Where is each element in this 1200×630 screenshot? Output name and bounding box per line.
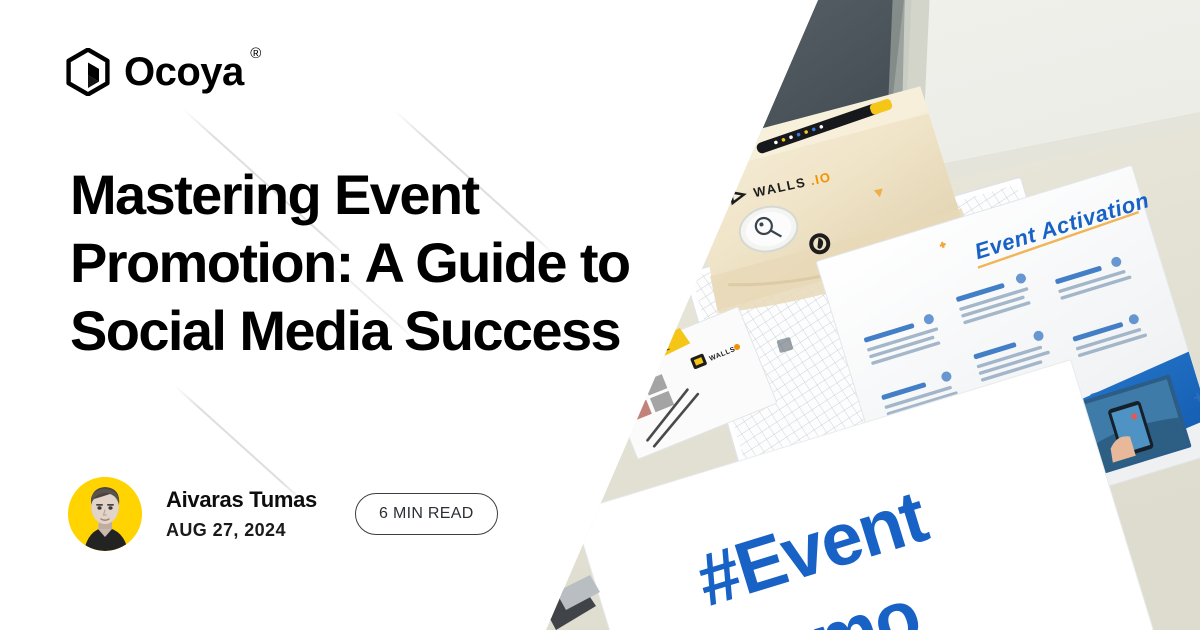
author-name: Aivaras Tumas: [166, 486, 317, 514]
blog-header-card: WALLS .IO: [0, 0, 1200, 630]
page-title: Mastering Event Promotion: A Guide to So…: [70, 161, 630, 365]
brand-logo[interactable]: Ocoya®: [66, 48, 244, 96]
publish-date: AUG 27, 2024: [166, 520, 317, 542]
registered-mark: ®: [250, 46, 261, 61]
brand-name: Ocoya®: [124, 52, 244, 92]
content-column: Ocoya® Mastering Event Promotion: A Guid…: [0, 0, 640, 630]
article-meta: Aivaras Tumas AUG 27, 2024 6 MIN READ: [68, 477, 498, 551]
read-time-badge: 6 MIN READ: [355, 493, 498, 535]
avatar: [68, 477, 142, 551]
hexagon-cube-icon: [66, 48, 110, 96]
author-info: Aivaras Tumas AUG 27, 2024: [166, 486, 317, 541]
